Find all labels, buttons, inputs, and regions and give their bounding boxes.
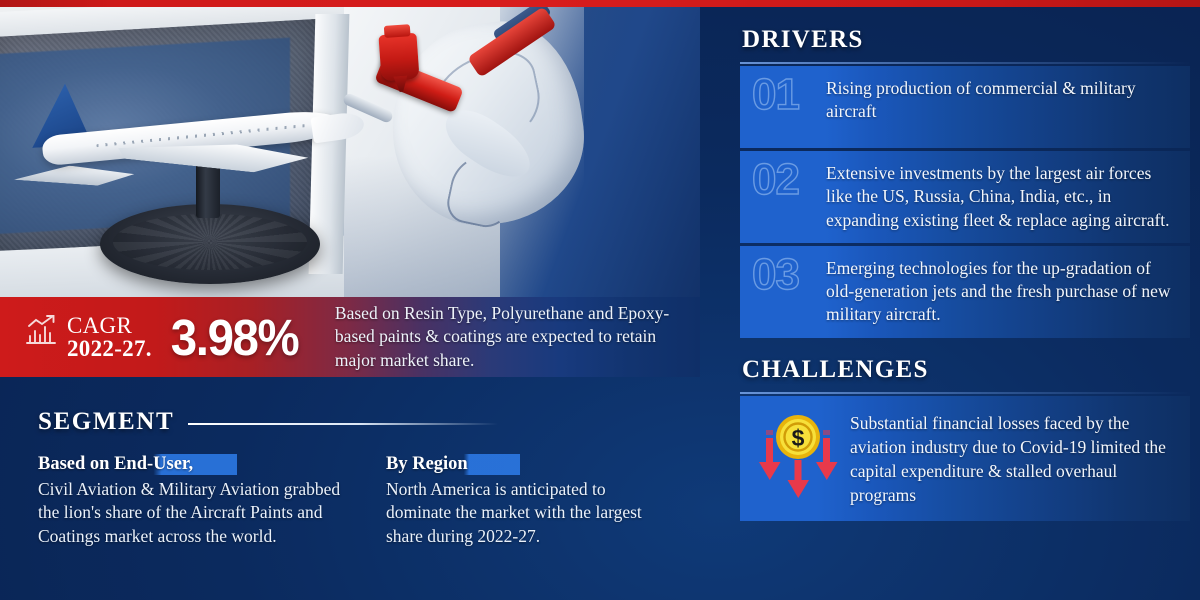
driver-item-03[interactable]: 03 Emerging technologies for the up-grad… [740, 246, 1190, 338]
challenges-divider [740, 392, 1190, 394]
spray-gun-paint-cup [378, 33, 419, 82]
segment-subtitle-region: By Region [386, 454, 520, 475]
right-column: DRIVERS 01 Rising production of commerci… [700, 6, 1200, 600]
segment-body-end-user: Civil Aviation & Military Aviation grabb… [38, 478, 348, 548]
resin-type-note: Based on Resin Type, Polyurethane and Ep… [335, 302, 685, 371]
segment-body-region: North America is anticipated to dominate… [386, 478, 646, 548]
cagr-value: 3.98% [171, 308, 299, 367]
cagr-years: 2022-27. [67, 337, 152, 360]
segment-column-region: By Region North America is anticipated t… [386, 454, 646, 548]
segment-subtitle-end-user: Based on End-User, [38, 454, 237, 475]
driver-text-02: Extensive investments by the largest air… [826, 151, 1190, 243]
drivers-title: DRIVERS [742, 26, 1190, 54]
drivers-divider [740, 62, 1190, 64]
driver-item-01[interactable]: 01 Rising production of commercial & mil… [740, 66, 1190, 148]
segment-columns: Based on End-User, Civil Aviation & Mili… [38, 454, 674, 548]
driver-number-02: 02 [740, 151, 826, 203]
challenge-icon-wrap: $ [740, 396, 850, 505]
cagr-label-group: CAGR 2022-27. [0, 314, 152, 361]
svg-text:$: $ [792, 425, 805, 451]
segment-column-end-user: Based on End-User, Civil Aviation & Mili… [38, 454, 348, 548]
infographic-canvas: CAGR 2022-27. 3.98% Based on Resin Type,… [0, 0, 1200, 600]
cagr-text-block: CAGR 2022-27. [67, 314, 152, 361]
driver-text-03: Emerging technologies for the up-gradati… [826, 246, 1190, 338]
driver-number-01: 01 [740, 66, 826, 118]
growth-bar-chart-icon [24, 314, 58, 346]
challenge-text-01: Substantial financial losses faced by th… [850, 396, 1190, 522]
segment-header: SEGMENT [38, 408, 674, 436]
challenges-title: CHALLENGES [742, 356, 1190, 384]
challenge-item-01[interactable]: $ [740, 396, 1190, 522]
cagr-banner: CAGR 2022-27. 3.98% Based on Resin Type,… [0, 297, 700, 377]
driver-text-01: Rising production of commercial & milita… [826, 66, 1190, 135]
top-red-stripe [0, 0, 1200, 7]
falling-money-icon: $ [752, 412, 844, 500]
cagr-label: CAGR [67, 314, 152, 337]
hero-photo [0, 6, 700, 306]
segment-divider [188, 423, 498, 425]
driver-item-02[interactable]: 02 Extensive investments by the largest … [740, 151, 1190, 243]
segment-section: SEGMENT Based on End-User, Civil Aviatio… [0, 380, 700, 600]
driver-number-03: 03 [740, 246, 826, 298]
segment-title: SEGMENT [38, 408, 174, 436]
